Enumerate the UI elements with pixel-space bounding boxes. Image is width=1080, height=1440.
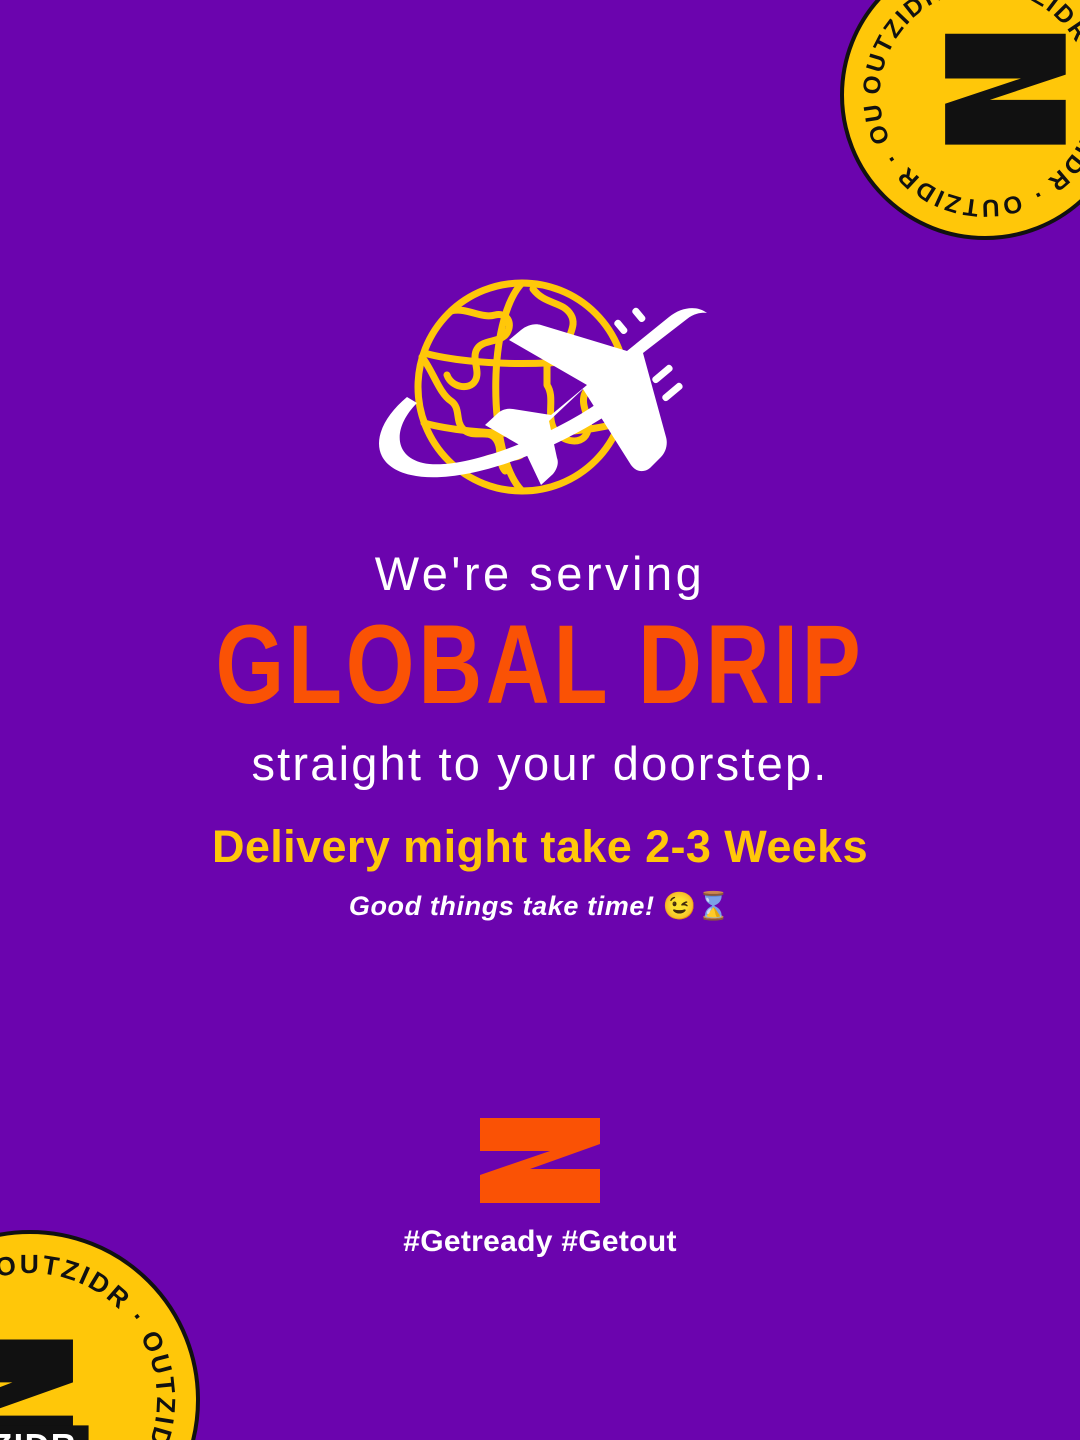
- badge-wordmark-bl: OUTZIDR: [0, 1428, 77, 1440]
- delivery-notice-block: Delivery might take 2-3 Weeks Good thing…: [0, 820, 1080, 922]
- headline-line-2: GLOBAL DRIP: [22, 609, 1059, 723]
- globe-plane-illustration: [355, 275, 715, 510]
- brand-z-logo: [480, 1118, 600, 1203]
- footer-brand-block: #Getready #Getout: [0, 1118, 1080, 1259]
- headline-line-3: straight to your doorstep.: [0, 738, 1080, 791]
- badge-z-mark-bl: OUTZIDR: [0, 1339, 89, 1440]
- headline-block: We're serving GLOBAL DRIP straight to yo…: [0, 548, 1080, 791]
- svg-text:OUTZIDR · OUTZIDR · OUTZIDR ·: OUTZIDR · OUTZIDR · OUTZIDR · OUTZIDR · …: [0, 1234, 181, 1440]
- wink-hourglass-emoji: 😉⌛: [663, 891, 731, 921]
- delivery-estimate-text: Delivery might take 2-3 Weeks: [0, 820, 1080, 874]
- headline-line-1: We're serving: [0, 548, 1080, 601]
- delivery-reassurance-label: Good things take time!: [349, 891, 655, 921]
- hashtag-line: #Getready #Getout: [0, 1225, 1080, 1259]
- badge-z-mark-tr: [945, 34, 1066, 145]
- delivery-reassurance-text: Good things take time! 😉⌛: [0, 890, 1080, 922]
- badge-ring-text-bl: OUTZIDR · OUTZIDR · OUTZIDR · OUTZIDR · …: [0, 1234, 181, 1440]
- brand-badge-top-right: OUTZIDR · OUTZIDR · OUTZIDR · OUTZIDR · …: [840, 0, 1080, 240]
- poster-canvas: OUTZIDR · OUTZIDR · OUTZIDR · OUTZIDR · …: [0, 0, 1080, 1440]
- brand-badge-bottom-left: OUTZIDR · OUTZIDR · OUTZIDR · OUTZIDR · …: [0, 1230, 200, 1440]
